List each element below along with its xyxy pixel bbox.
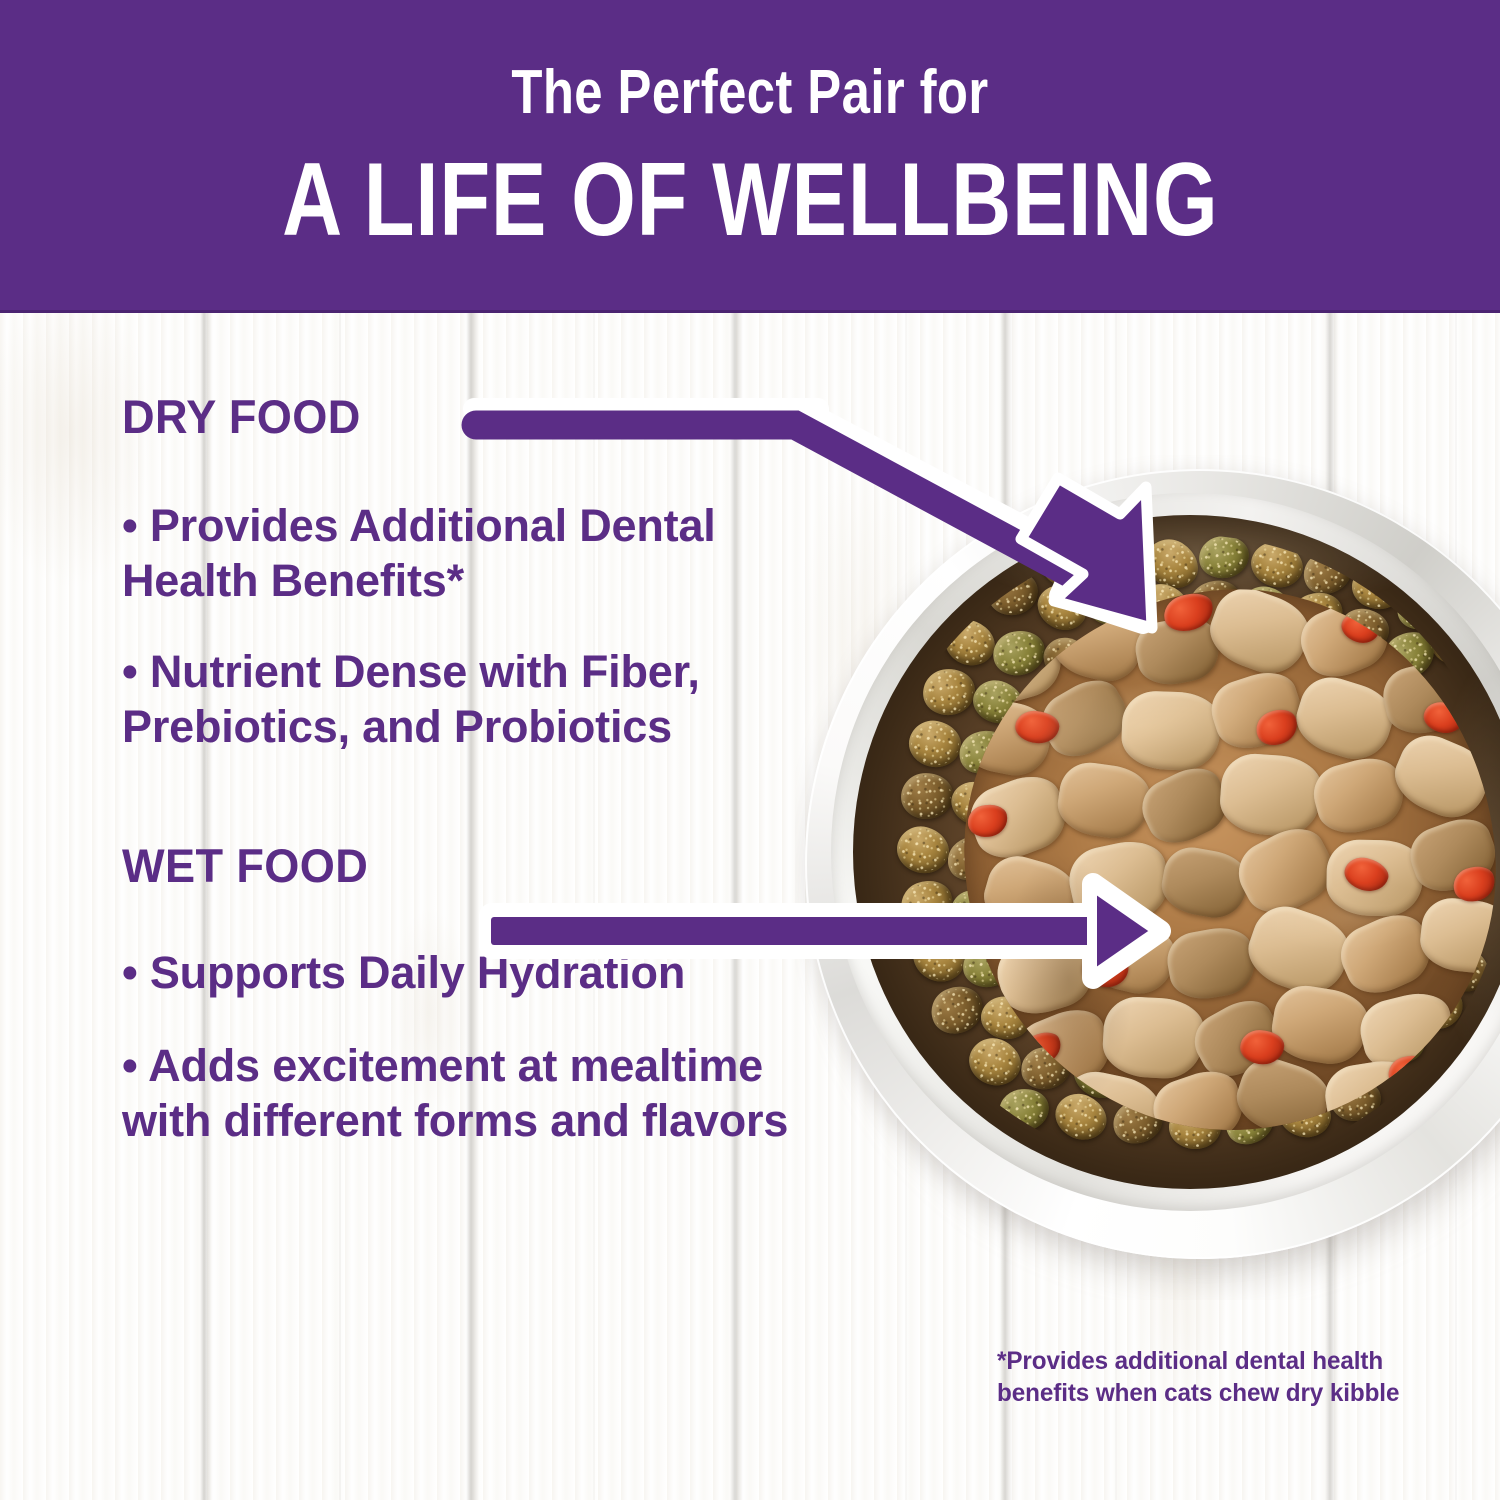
copy-column: DRY FOOD • Provides Additional Dental He… — [122, 392, 802, 1149]
dry-food-bullet-2: • Nutrient Dense with Fiber, Prebiotics,… — [122, 645, 802, 755]
poster-canvas: The Perfect Pair for A LIFE OF WELLBEING — [0, 0, 1500, 1500]
wet-food-heading: WET FOOD — [122, 841, 775, 890]
dry-food-bullet-1: • Provides Additional Dental Health Bene… — [122, 499, 802, 609]
dry-food-heading: DRY FOOD — [122, 392, 775, 441]
footnote-text: *Provides additional dental health benef… — [997, 1345, 1404, 1409]
header-title: A LIFE OF WELLBEING — [282, 148, 1219, 252]
header-subtitle: The Perfect Pair for — [511, 62, 988, 124]
wet-food-bullet-2: • Adds excitement at mealtime with diffe… — [122, 1039, 802, 1149]
header-banner: The Perfect Pair for A LIFE OF WELLBEING — [0, 0, 1500, 313]
wet-food-bullet-1: • Supports Daily Hydration — [122, 946, 802, 1001]
